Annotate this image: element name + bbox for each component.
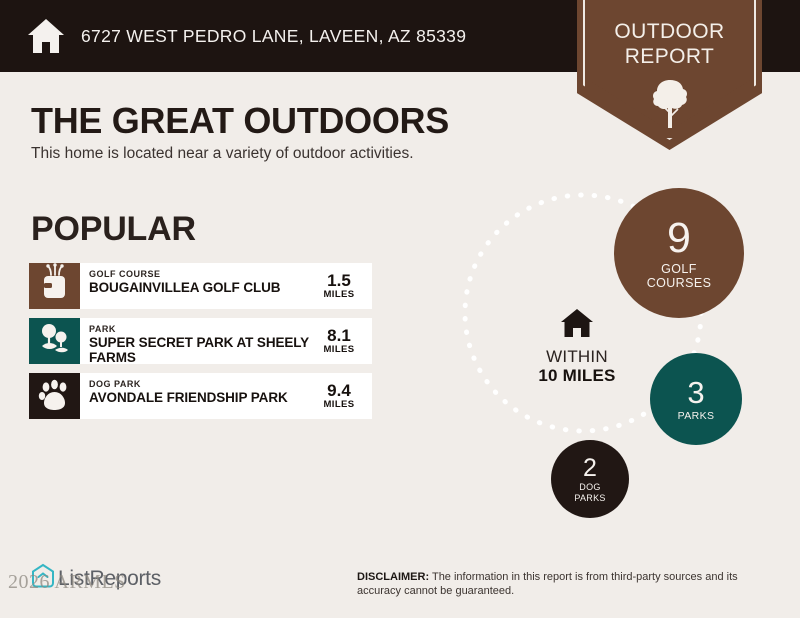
disclaimer-label: DISCLAIMER:	[357, 571, 429, 583]
list-item-distance: 1.5 MILES	[315, 272, 363, 301]
stat-count: 2	[583, 455, 597, 481]
within-label: WITHIN	[512, 347, 642, 366]
park-tree-icon	[29, 318, 80, 364]
stat-label-line2: COURSES	[647, 276, 712, 290]
popular-list: GOLF COURSE BOUGAINVILLEA GOLF CLUB 1.5 …	[29, 263, 372, 428]
list-item-text: DOG PARK AVONDALE FRIENDSHIP PARK	[89, 379, 319, 405]
distance-value: 1.5	[315, 272, 363, 289]
distance-value: 9.4	[315, 382, 363, 399]
home-icon	[26, 17, 66, 55]
property-address: 6727 WEST PEDRO LANE, LAVEEN, AZ 85339	[81, 26, 466, 47]
stat-label: PARKS	[678, 410, 715, 422]
ring-center-label: WITHIN 10 MILES	[512, 308, 642, 385]
distance-value: 8.1	[315, 327, 363, 344]
paw-print-icon	[29, 373, 80, 419]
page-title: THE GREAT OUTDOORS	[31, 100, 449, 142]
tree-icon	[649, 78, 691, 128]
distance-unit: MILES	[315, 289, 363, 301]
outdoor-report-page: 6727 WEST PEDRO LANE, LAVEEN, AZ 85339 O…	[0, 0, 800, 618]
distance-unit: MILES	[315, 344, 363, 356]
stat-circle-parks: 3 PARKS	[650, 353, 742, 445]
list-item[interactable]: DOG PARK AVONDALE FRIENDSHIP PARK 9.4 MI…	[29, 373, 372, 419]
radius-label: 10 MILES	[512, 366, 642, 385]
stat-label-line1: GOLF	[647, 262, 712, 276]
golf-bag-icon	[29, 263, 80, 309]
badge-title: OUTDOOR REPORT	[577, 19, 762, 69]
stat-label: GOLF COURSES	[647, 262, 712, 290]
list-item-category: DOG PARK	[89, 379, 319, 390]
home-icon	[512, 308, 642, 343]
list-item-distance: 9.4 MILES	[315, 382, 363, 411]
list-item-text: GOLF COURSE BOUGAINVILLEA GOLF CLUB	[89, 269, 319, 295]
list-item-distance: 8.1 MILES	[315, 327, 363, 356]
list-item-text: PARK SUPER SECRET PARK AT SHEELY FARMS	[89, 324, 319, 365]
stat-circle-golf-courses: 9 GOLF COURSES	[614, 188, 744, 318]
distance-unit: MILES	[315, 399, 363, 411]
section-title-popular: POPULAR	[31, 210, 196, 249]
stat-count: 9	[667, 216, 691, 260]
stat-count: 3	[687, 377, 704, 409]
list-item-name: BOUGAINVILLEA GOLF CLUB	[89, 280, 319, 295]
list-item[interactable]: PARK SUPER SECRET PARK AT SHEELY FARMS 8…	[29, 318, 372, 364]
badge-title-line1: OUTDOOR	[577, 19, 762, 44]
badge-title-line2: REPORT	[577, 44, 762, 69]
stat-label-line1: DOG	[574, 482, 605, 493]
list-item-name: AVONDALE FRIENDSHIP PARK	[89, 390, 319, 405]
stat-label: DOG PARKS	[574, 482, 605, 503]
armls-watermark: 2026 ARMLS	[8, 571, 126, 594]
list-item-category: PARK	[89, 324, 319, 335]
stat-label-line2: PARKS	[574, 493, 605, 504]
list-item[interactable]: GOLF COURSE BOUGAINVILLEA GOLF CLUB 1.5 …	[29, 263, 372, 309]
stat-circle-dog-parks: 2 DOG PARKS	[551, 440, 629, 518]
disclaimer: DISCLAIMER: The information in this repo…	[357, 570, 777, 598]
list-item-category: GOLF COURSE	[89, 269, 319, 280]
list-item-name: SUPER SECRET PARK AT SHEELY FARMS	[89, 335, 319, 365]
page-subtitle: This home is located near a variety of o…	[31, 145, 414, 163]
